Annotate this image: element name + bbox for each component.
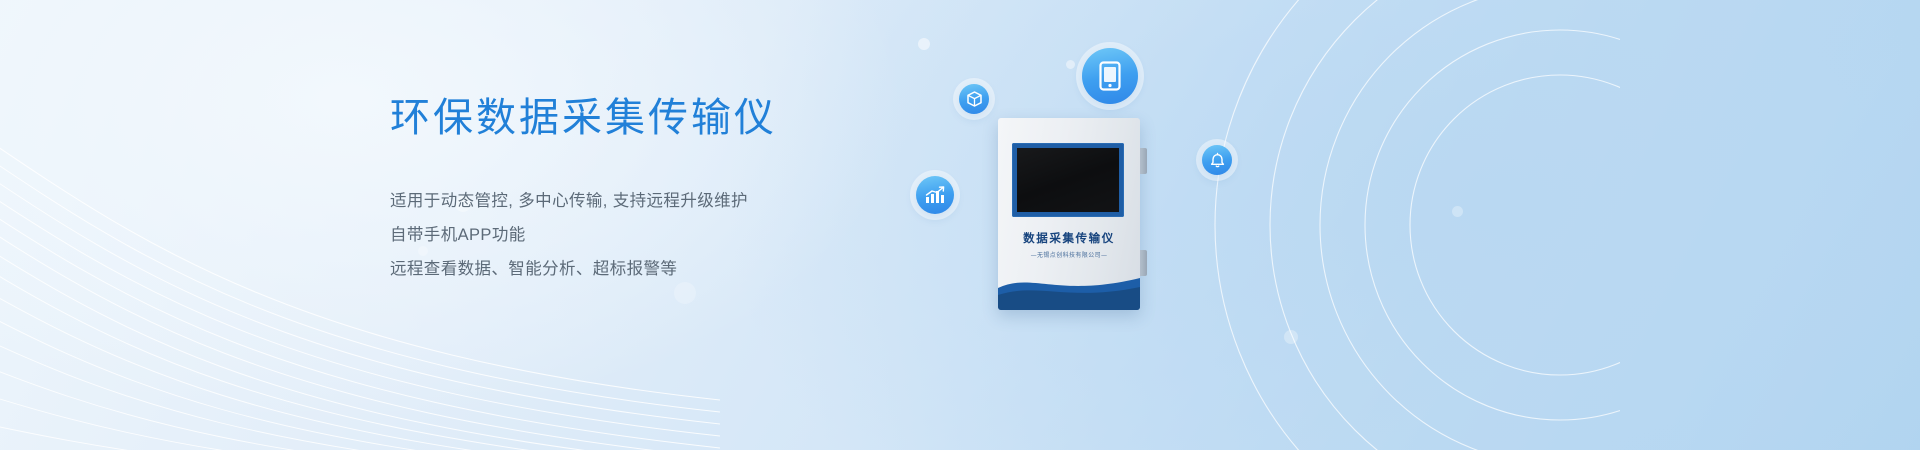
list-item: 自带手机APP功能 (390, 221, 910, 250)
feature-list: 适用于动态管控, 多中心传输, 支持远程升级维护 自带手机APP功能 远程查看数… (390, 187, 910, 284)
device-wave-decoration (998, 268, 1140, 310)
device-screen-frame (1012, 143, 1124, 217)
bokeh-dot (1284, 330, 1298, 344)
box-icon[interactable] (959, 84, 989, 114)
signal-arcs-decoration (1060, 0, 1620, 450)
list-item: 适用于动态管控, 多中心传输, 支持远程升级维护 (390, 187, 910, 216)
chart-icon-glyph (925, 186, 945, 204)
bokeh-dot (1066, 60, 1075, 69)
device-side-connector (1139, 250, 1147, 276)
page-title: 环保数据采集传输仪 (390, 96, 910, 141)
device-side-connector (1139, 148, 1147, 174)
chart-icon[interactable] (916, 176, 954, 214)
bokeh-dot (918, 38, 930, 50)
device-sub-label: —无锡点创科技有限公司— (998, 250, 1140, 259)
list-item: 远程查看数据、智能分析、超标报警等 (390, 255, 910, 284)
device-screen (1017, 148, 1119, 212)
box-icon-glyph (967, 91, 982, 107)
product-hero-banner: 环保数据采集传输仪 适用于动态管控, 多中心传输, 支持远程升级维护 自带手机A… (0, 0, 1920, 450)
phone-icon[interactable] (1082, 48, 1138, 104)
alarm-icon-glyph (1210, 152, 1225, 168)
alarm-icon[interactable] (1202, 145, 1232, 175)
device-image: 数据采集传输仪 —无锡点创科技有限公司— (998, 118, 1140, 310)
bokeh-dot (1452, 206, 1463, 217)
hero-copy: 环保数据采集传输仪 适用于动态管控, 多中心传输, 支持远程升级维护 自带手机A… (390, 96, 910, 289)
device-body: 数据采集传输仪 —无锡点创科技有限公司— (998, 118, 1140, 310)
phone-icon-glyph (1099, 61, 1121, 91)
device-label: 数据采集传输仪 (998, 230, 1140, 246)
